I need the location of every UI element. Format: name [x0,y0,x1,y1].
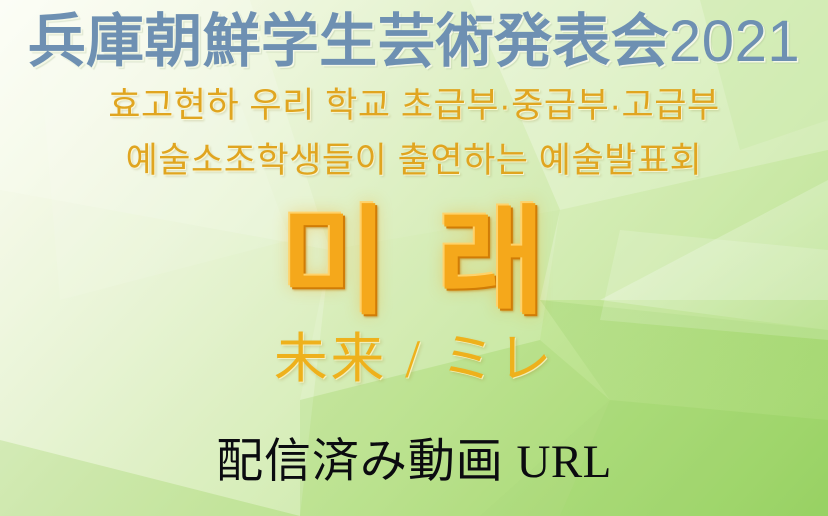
title-event-name: 兵庫朝鮮学生芸術発表会 [28,9,669,74]
title-year: 2021 [669,9,800,74]
caption-url-label: URL [516,436,611,488]
reading-separator: / [405,329,423,389]
headline-title: 미래 [0,204,828,322]
poster-canvas: 兵庫朝鮮学生芸術発表会2021 효고현하 우리 학교 초급부·중급부·고급부 예… [0,0,828,516]
headline-char-2: 래 [437,197,548,329]
headline-char-1: 미 [280,197,391,329]
bottom-caption: 配信済み動画 URL [0,437,828,489]
caption-text: 配信済み動画 [216,436,504,488]
page-title: 兵庫朝鮮学生芸術発表会2021 [0,11,828,72]
headline-reading: 未来/ミレ [0,330,828,388]
reading-kanji: 未来 [274,329,387,389]
reading-kana: ミレ [441,329,554,389]
subtitle-line-1: 효고현하 우리 학교 초급부·중급부·고급부 [0,88,828,123]
subtitle-line-2: 예술소조학생들이 출연하는 예술발표회 [0,143,828,178]
